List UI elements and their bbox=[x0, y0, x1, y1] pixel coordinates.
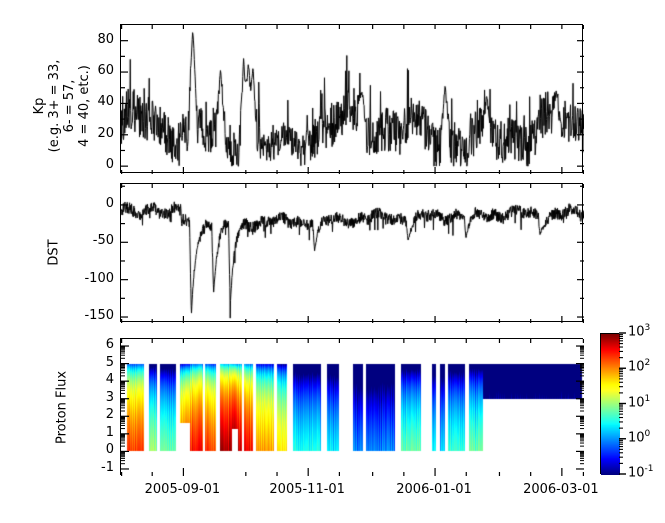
dst-ytick: -150 bbox=[62, 308, 114, 323]
flux-ytick: -1 bbox=[76, 460, 114, 475]
colorbar bbox=[600, 333, 619, 474]
kp-ytick: 60 bbox=[76, 63, 114, 78]
flux-ytick: 2 bbox=[76, 407, 114, 422]
colorbar-tick-label: 103 bbox=[628, 323, 650, 339]
kp-ytick: 40 bbox=[76, 94, 114, 109]
flux-axis-label: Proton Flux bbox=[55, 353, 70, 463]
flux-ytick: 6 bbox=[76, 337, 114, 352]
flux-ytick: 1 bbox=[76, 425, 114, 440]
colorbar-tick-label: 10-1 bbox=[628, 464, 654, 480]
dst-ytick: -50 bbox=[62, 233, 114, 248]
dst-axis-label: DST bbox=[47, 223, 62, 283]
colorbar-tick-label: 102 bbox=[628, 358, 650, 374]
dst-ytick: -100 bbox=[62, 271, 114, 286]
x-axis-tick: 2006-03-01 bbox=[506, 482, 616, 497]
proton-flux-panel bbox=[120, 338, 583, 475]
figure-root: Kp (e.g. 3+ = 33, 6- = 57, 4 = 40, etc.)… bbox=[0, 0, 665, 523]
flux-ytick: 0 bbox=[76, 442, 114, 457]
colorbar-tick-label: 100 bbox=[628, 429, 650, 445]
colorbar-gradient bbox=[601, 334, 620, 475]
kp-ytick: 20 bbox=[76, 126, 114, 141]
dst-axis-ticks bbox=[121, 184, 584, 323]
flux-ytick: 3 bbox=[76, 390, 114, 405]
kp-ytick: 80 bbox=[76, 32, 114, 47]
x-axis-tick: 2006-01-01 bbox=[379, 482, 489, 497]
flux-ytick: 4 bbox=[76, 372, 114, 387]
kp-axis-ticks bbox=[121, 25, 584, 174]
kp-panel bbox=[120, 24, 583, 173]
x-axis-tick: 2005-09-01 bbox=[127, 482, 237, 497]
dst-panel bbox=[120, 183, 583, 322]
dst-ytick: 0 bbox=[62, 196, 114, 211]
x-axis-tick: 2005-11-01 bbox=[252, 482, 362, 497]
colorbar-tick-label: 101 bbox=[628, 394, 650, 410]
kp-ytick: 0 bbox=[76, 157, 114, 172]
flux-axis-ticks bbox=[121, 339, 584, 476]
flux-ytick: 5 bbox=[76, 355, 114, 370]
